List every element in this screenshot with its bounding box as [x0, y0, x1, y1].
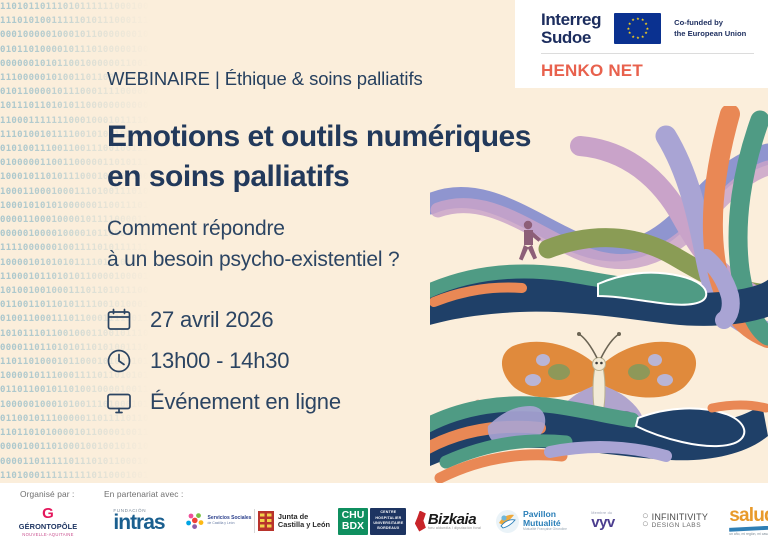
logo-pavillon-mutualite: Pavillon Mutualité Mutualité Française G… [485, 502, 577, 540]
logo-junta-castilla-leon: Junta de Castilla y León [255, 502, 333, 540]
logo-chu-bordeaux: CHU BDX CENTRE HOSPITALIER UNIVERSITAIRE… [333, 502, 411, 540]
logo-gerontopole: G GÉRONTOPÔLE NOUVELLE-AQUITAINE [0, 502, 96, 540]
gerontopole-name: GÉRONTOPÔLE [19, 522, 77, 531]
webinar-kicker: WEBINAIRE | Éthique & soins palliatifs [107, 68, 423, 90]
title-line2: en soins palliatifs [107, 157, 627, 197]
intras-wordmark: intras [113, 513, 164, 533]
event-format-text: Événement en ligne [150, 389, 341, 415]
infinitivity-line1: INFINITIVITY [652, 512, 708, 522]
logo-intras: FUNDACIÓN intras [96, 502, 182, 540]
eu-text-line1: Co-funded by [674, 18, 746, 28]
organiser-label: Organisé par : [20, 489, 74, 499]
interreg-line1: Interreg [541, 10, 601, 29]
salud-wordmark: salud [729, 506, 768, 525]
interreg-line2: Sudoe [541, 29, 601, 47]
eu-cofunding-text: Co-funded by the European Union [674, 18, 746, 39]
pavillon-sub: Mutualité Française Girondine [523, 528, 567, 531]
bizkaia-sub: foru aldundia / diputación foral [428, 527, 481, 531]
salud-bar [729, 526, 768, 532]
partners-label: En partenariat avec : [104, 489, 183, 499]
event-date-text: 27 avril 2026 [150, 307, 273, 333]
interreg-sudoe-wordmark: Interreg Sudoe [541, 11, 601, 46]
card-divider [541, 53, 754, 54]
bizkaia-icon [415, 511, 426, 532]
pavillon-mutualite-icon [495, 509, 520, 534]
servicios-sociales-icon [185, 511, 205, 531]
logo-vyv: Membre du vyv [577, 502, 629, 540]
monitor-icon [105, 388, 133, 416]
interreg-sudoe-logo-card: Interreg Sudoe ★★★★★★★★★★★★ Co-funded by… [515, 0, 768, 88]
chu-bdx-box: CHU BDX [338, 508, 369, 535]
clock-icon [105, 347, 133, 375]
partners-footer: Organisé par : En partenariat avec : G G… [0, 483, 768, 542]
partner-logos: G GÉRONTOPÔLE NOUVELLE-AQUITAINE FUNDACI… [0, 502, 768, 540]
event-format-row: Événement en ligne [105, 388, 341, 416]
event-date-row: 27 avril 2026 [105, 306, 341, 334]
webinar-poster: 1101011011101011111100010010100011111010… [0, 0, 768, 542]
gerontopole-mark: G [42, 506, 54, 521]
calendar-icon [105, 306, 133, 334]
title-line1: Emotions et outils numériques [107, 120, 531, 153]
gerontopole-sub: NOUVELLE-AQUITAINE [22, 532, 73, 537]
page-title: Emotions et outils numériques en soins p… [107, 117, 627, 197]
servicios-sociales-line2: de Castilla y León [208, 522, 252, 526]
chu-line2: BDX [342, 521, 364, 532]
logo-bizkaia: Bizkaia foru aldundia / diputación foral [411, 502, 485, 540]
henko-net-programme-name: HENKO NET [541, 61, 754, 81]
european-union-flag-icon: ★★★★★★★★★★★★ [614, 13, 661, 44]
chu-subtitle-box: CENTRE HOSPITALIER UNIVERSITAIRE BORDEAU… [370, 508, 406, 535]
logo-servicios-sociales: Servicios Sociales de Castilla y León [182, 502, 254, 540]
footer-labels: Organisé par : En partenariat avec : [0, 489, 768, 502]
infinity-circles-icon: ○○ [642, 513, 649, 529]
vyv-wordmark: vyv [591, 515, 615, 530]
page-subtitle: Comment répondre à un besoin psycho-exis… [107, 213, 547, 275]
logo-salud: salud un año, mi región, mi casa [721, 502, 768, 540]
eu-text-line2: the European Union [674, 29, 746, 39]
event-time-row: 13h00 - 14h30 [105, 347, 341, 375]
chu-sub4: BORDEAUX [377, 526, 399, 531]
event-time-text: 13h00 - 14h30 [150, 348, 289, 374]
junta-line2: Castilla y León [278, 520, 330, 529]
subtitle-line1: Comment répondre [107, 217, 285, 240]
logo-infinitivity-design-labs: ○○ INFINITIVITY DESIGN LABS [629, 502, 721, 540]
junta-shield-icon [258, 511, 274, 531]
subtitle-line2: à un besoin psycho-existentiel ? [107, 244, 547, 275]
interreg-row: Interreg Sudoe ★★★★★★★★★★★★ Co-funded by… [541, 11, 754, 46]
event-details: 27 avril 2026 13h00 - 14h30 Événement en… [105, 306, 341, 416]
bizkaia-wordmark: Bizkaia [428, 512, 481, 527]
salud-sub: un año, mi región, mi casa [729, 533, 768, 536]
infinitivity-line2: DESIGN LABS [652, 522, 708, 529]
